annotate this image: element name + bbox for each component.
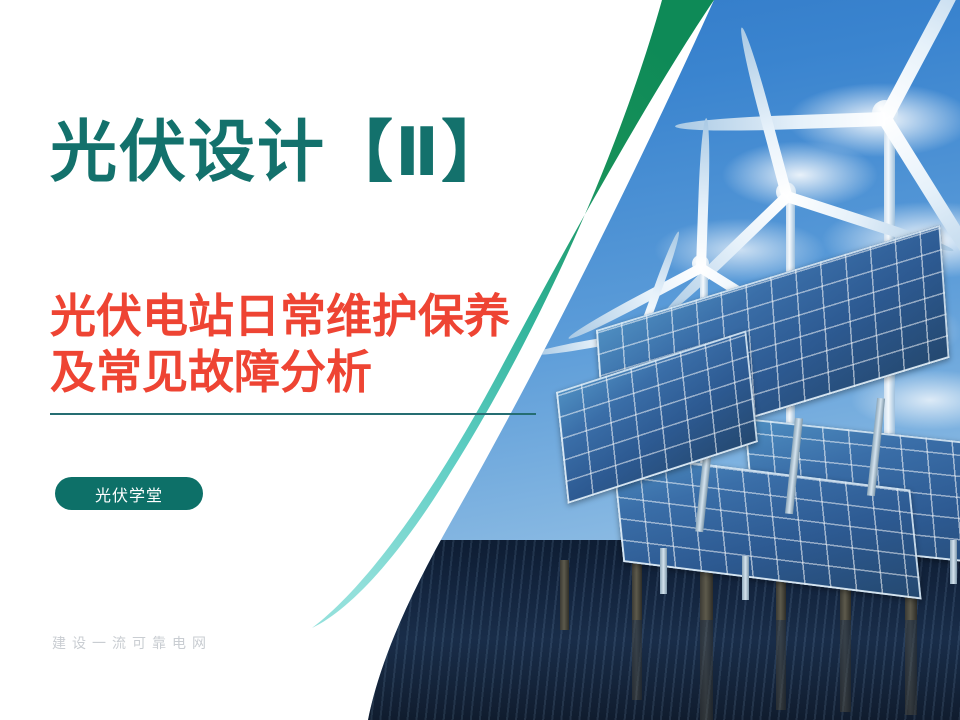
footer-slogan: 建设一流可靠电网 [52, 633, 212, 653]
presentation-slide: 光伏设计【Ⅱ】 光伏电站日常维护保养及常见故障分析 光伏学堂 建设一流可靠电网 [0, 0, 960, 720]
slide-subtitle: 光伏电站日常维护保养及常见故障分析 [50, 288, 520, 400]
publisher-badge: 光伏学堂 [55, 477, 203, 510]
publisher-badge-label: 光伏学堂 [95, 482, 163, 506]
page-title: 光伏设计【Ⅱ】 [50, 119, 510, 186]
title-divider [50, 413, 536, 415]
